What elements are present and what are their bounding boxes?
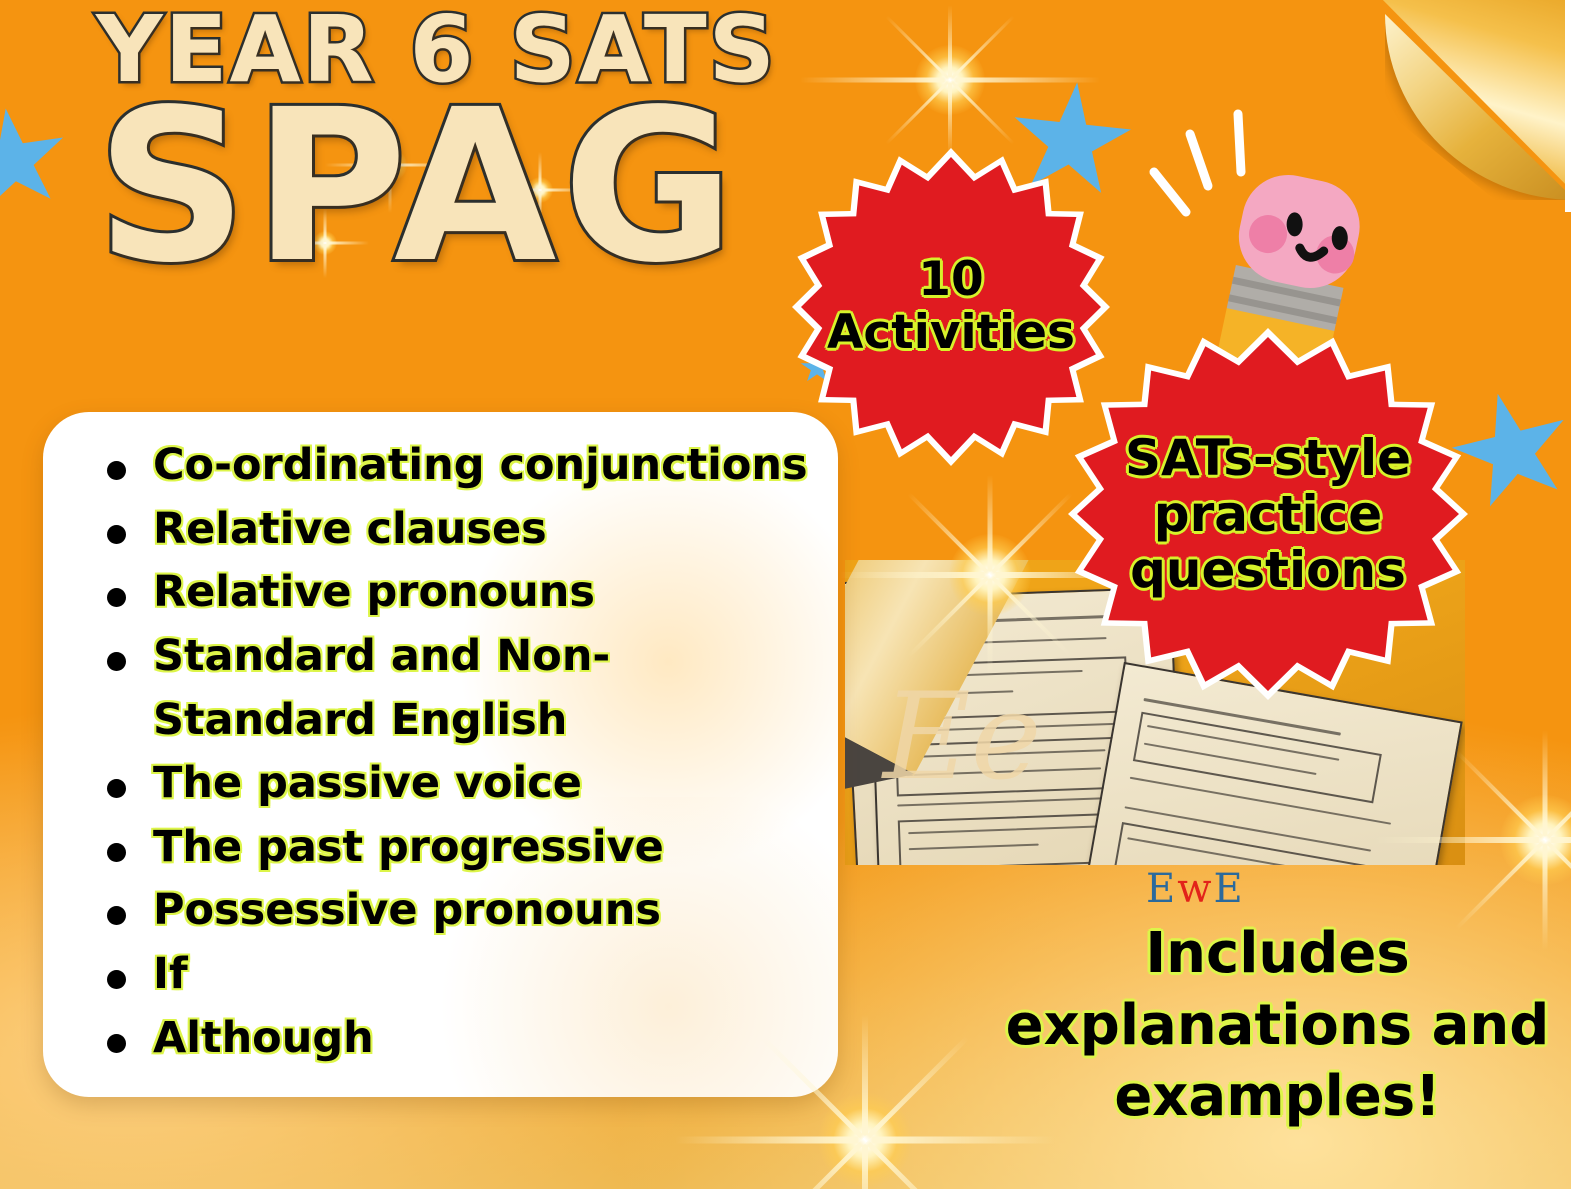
list-item: Although — [99, 1007, 816, 1071]
list-item: Co-ordinating conjunctions — [99, 434, 816, 498]
list-item: If — [99, 943, 816, 1007]
list-item-label: Co-ordinating conjunctions — [153, 440, 808, 490]
badge-sats-style-practice-questions: SATs-style practice questions — [1068, 328, 1468, 700]
list-item-label: Standard and Non-Standard English — [153, 631, 610, 745]
list-item-label: Relative clauses — [153, 504, 547, 554]
list-item: Relative clauses — [99, 498, 816, 562]
bullet-dot-icon — [107, 906, 126, 925]
bullet-dot-icon — [107, 525, 126, 544]
list-item: Possessive pronouns — [99, 879, 816, 943]
list-item-label: The passive voice — [153, 758, 582, 808]
bullet-dot-icon — [107, 843, 126, 862]
list-item-label: The past progressive — [153, 822, 664, 872]
logo-letter-w: w — [1177, 866, 1213, 912]
list-item-label: If — [153, 949, 188, 999]
poster-title: YEAR 6 SATS SPAG — [96, 4, 896, 285]
logo-letter-e1: E — [1146, 866, 1177, 912]
list-item: Relative pronouns — [99, 561, 816, 625]
blue-star-icon — [0, 101, 75, 220]
right-border-strip — [1571, 0, 1587, 1189]
bullet-dot-icon — [107, 652, 126, 671]
poster-canvas: YEAR 6 SATS SPAG — [0, 0, 1587, 1189]
topics-list: Co-ordinating conjunctions Relative clau… — [43, 412, 838, 1070]
list-item-label: Although — [153, 1013, 374, 1063]
topics-card: Co-ordinating conjunctions Relative clau… — [43, 412, 838, 1097]
bullet-dot-icon — [107, 1034, 126, 1053]
logo-letter-e2: E — [1213, 866, 1244, 912]
bullet-dot-icon — [107, 779, 126, 798]
list-item-label: Possessive pronouns — [153, 885, 661, 935]
footer-tagline: Includes explanations and examples! — [1000, 918, 1555, 1133]
bullet-dot-icon — [107, 588, 126, 607]
bullet-dot-icon — [107, 461, 126, 480]
list-item: The past progressive — [99, 816, 816, 880]
ewe-logo: EwE — [1146, 866, 1245, 912]
badge-practice-label: SATs-style practice questions — [1091, 430, 1445, 598]
list-item: The passive voice — [99, 752, 816, 816]
bullet-dot-icon — [107, 970, 126, 989]
list-item-label: Relative pronouns — [153, 567, 595, 617]
list-item: Standard and Non-Standard English — [99, 625, 816, 752]
title-line-2: SPAG — [96, 88, 896, 285]
